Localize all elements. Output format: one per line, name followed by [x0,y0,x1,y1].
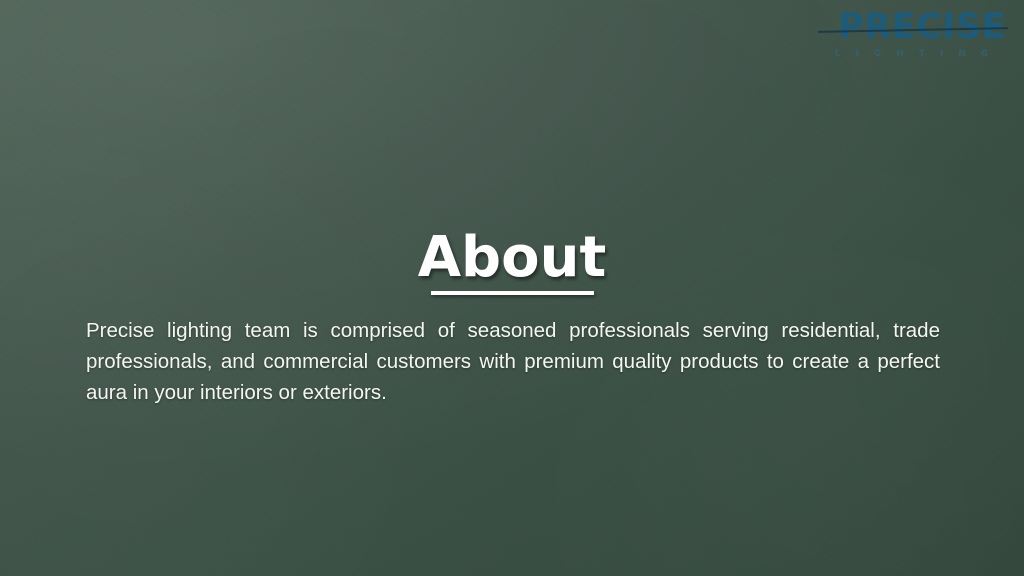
slide-heading-block: About [0,228,1024,295]
page-title: About [416,228,609,288]
page-title-underline [431,291,594,295]
logo-wordmark-group: PRECISE [816,8,1008,46]
logo-tagline-text: LIGHTING [816,49,1008,59]
slide-body-text: Precise lighting team is comprised of se… [86,315,940,408]
precise-lighting-logo: PRECISE LIGHTING [816,8,1008,59]
slide-canvas: PRECISE LIGHTING About Precise lighting … [0,0,1024,576]
body-paragraph: Precise lighting team is comprised of se… [86,315,940,408]
